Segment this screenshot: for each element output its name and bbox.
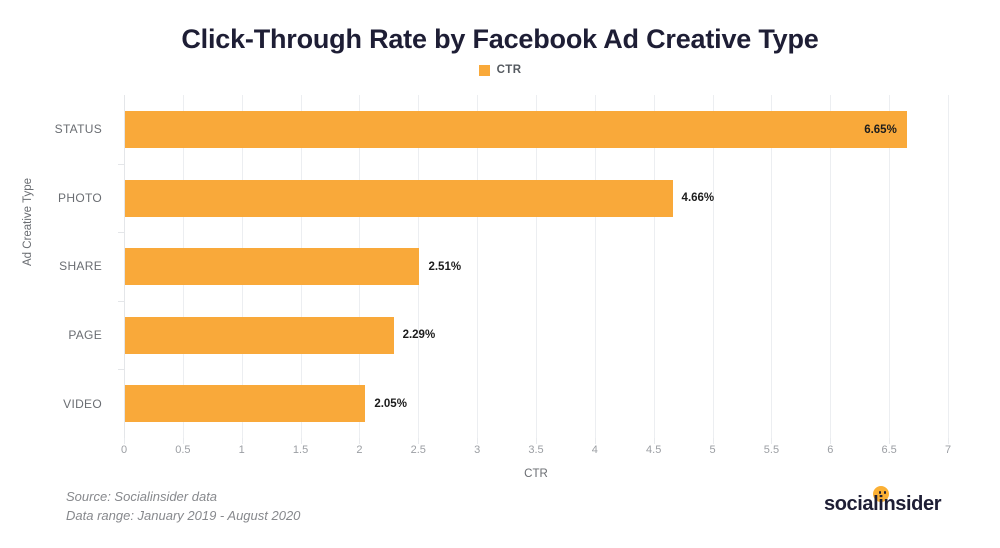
bar-row[interactable]: 2.51% <box>124 232 948 301</box>
x-axis-tick-label: 4.5 <box>646 444 661 456</box>
x-axis-tick-label: 5.5 <box>764 444 779 456</box>
legend-swatch-ctr <box>479 65 490 76</box>
x-axis-tick-label: 4 <box>592 444 598 456</box>
bar-video[interactable] <box>124 385 365 422</box>
legend-label-ctr: CTR <box>497 64 522 76</box>
y-axis-tick <box>118 164 124 165</box>
x-axis-tick-label: 3.5 <box>528 444 543 456</box>
x-axis-tick-label: 6 <box>827 444 833 456</box>
bar-value-label: 2.29% <box>403 317 436 354</box>
bar-row[interactable]: 2.05% <box>124 369 948 438</box>
y-axis-tick <box>118 301 124 302</box>
bar-value-label: 4.66% <box>682 180 715 217</box>
y-axis-category-label: PHOTO <box>58 164 102 233</box>
x-axis-tick-label: 1 <box>239 444 245 456</box>
y-axis-title: Ad Creative Type <box>22 178 34 266</box>
plot-area: 6.65%4.66%2.51%2.29%2.05% <box>124 95 948 438</box>
y-axis-category-label: VIDEO <box>63 369 102 438</box>
y-axis-tick <box>118 232 124 233</box>
x-axis-tick-label: 6.5 <box>881 444 896 456</box>
footer-source: Source: Socialinsider data <box>66 487 300 506</box>
bar-value-label: 2.51% <box>428 248 461 285</box>
bar-value-label: 2.05% <box>374 385 407 422</box>
x-axis-tick-label: 3 <box>474 444 480 456</box>
bar-row[interactable]: 2.29% <box>124 301 948 370</box>
x-axis-tick-label: 1.5 <box>293 444 308 456</box>
bar-row[interactable]: 4.66% <box>124 164 948 233</box>
y-axis-tick <box>118 369 124 370</box>
x-axis-tick-label: 2.5 <box>411 444 426 456</box>
footer-data-range: Data range: January 2019 - August 2020 <box>66 506 300 525</box>
footer-notes: Source: Socialinsider data Data range: J… <box>66 487 300 525</box>
bar-share[interactable] <box>124 248 419 285</box>
y-axis-category-labels: STATUSPHOTOSHAREPAGEVIDEO <box>0 95 112 438</box>
page-title: Click-Through Rate by Facebook Ad Creati… <box>0 24 1000 55</box>
y-axis-spine <box>124 95 125 438</box>
y-axis-category-label: SHARE <box>59 232 102 301</box>
chart-canvas: Click-Through Rate by Facebook Ad Creati… <box>0 0 1000 548</box>
x-axis-tick-label: 0.5 <box>175 444 190 456</box>
bar-row[interactable]: 6.65% <box>124 95 948 164</box>
gridline <box>948 95 949 438</box>
logo-wordmark: socialinsider <box>824 493 941 516</box>
chart-legend: CTR <box>0 64 1000 76</box>
y-axis-category-label: PAGE <box>68 301 102 370</box>
bar-value-label: 6.65% <box>124 111 897 148</box>
x-axis-title: CTR <box>124 468 948 480</box>
x-axis-tick-label: 5 <box>710 444 716 456</box>
x-axis-tick-labels: 00.511.522.533.544.555.566.57 <box>124 444 948 462</box>
x-axis-tick-label: 0 <box>121 444 127 456</box>
bar-page[interactable] <box>124 317 394 354</box>
y-axis-category-label: STATUS <box>55 95 102 164</box>
bar-photo[interactable] <box>124 180 673 217</box>
x-axis-tick-label: 2 <box>356 444 362 456</box>
socialinsider-logo: socialinsider <box>824 486 942 516</box>
x-axis-tick-label: 7 <box>945 444 951 456</box>
